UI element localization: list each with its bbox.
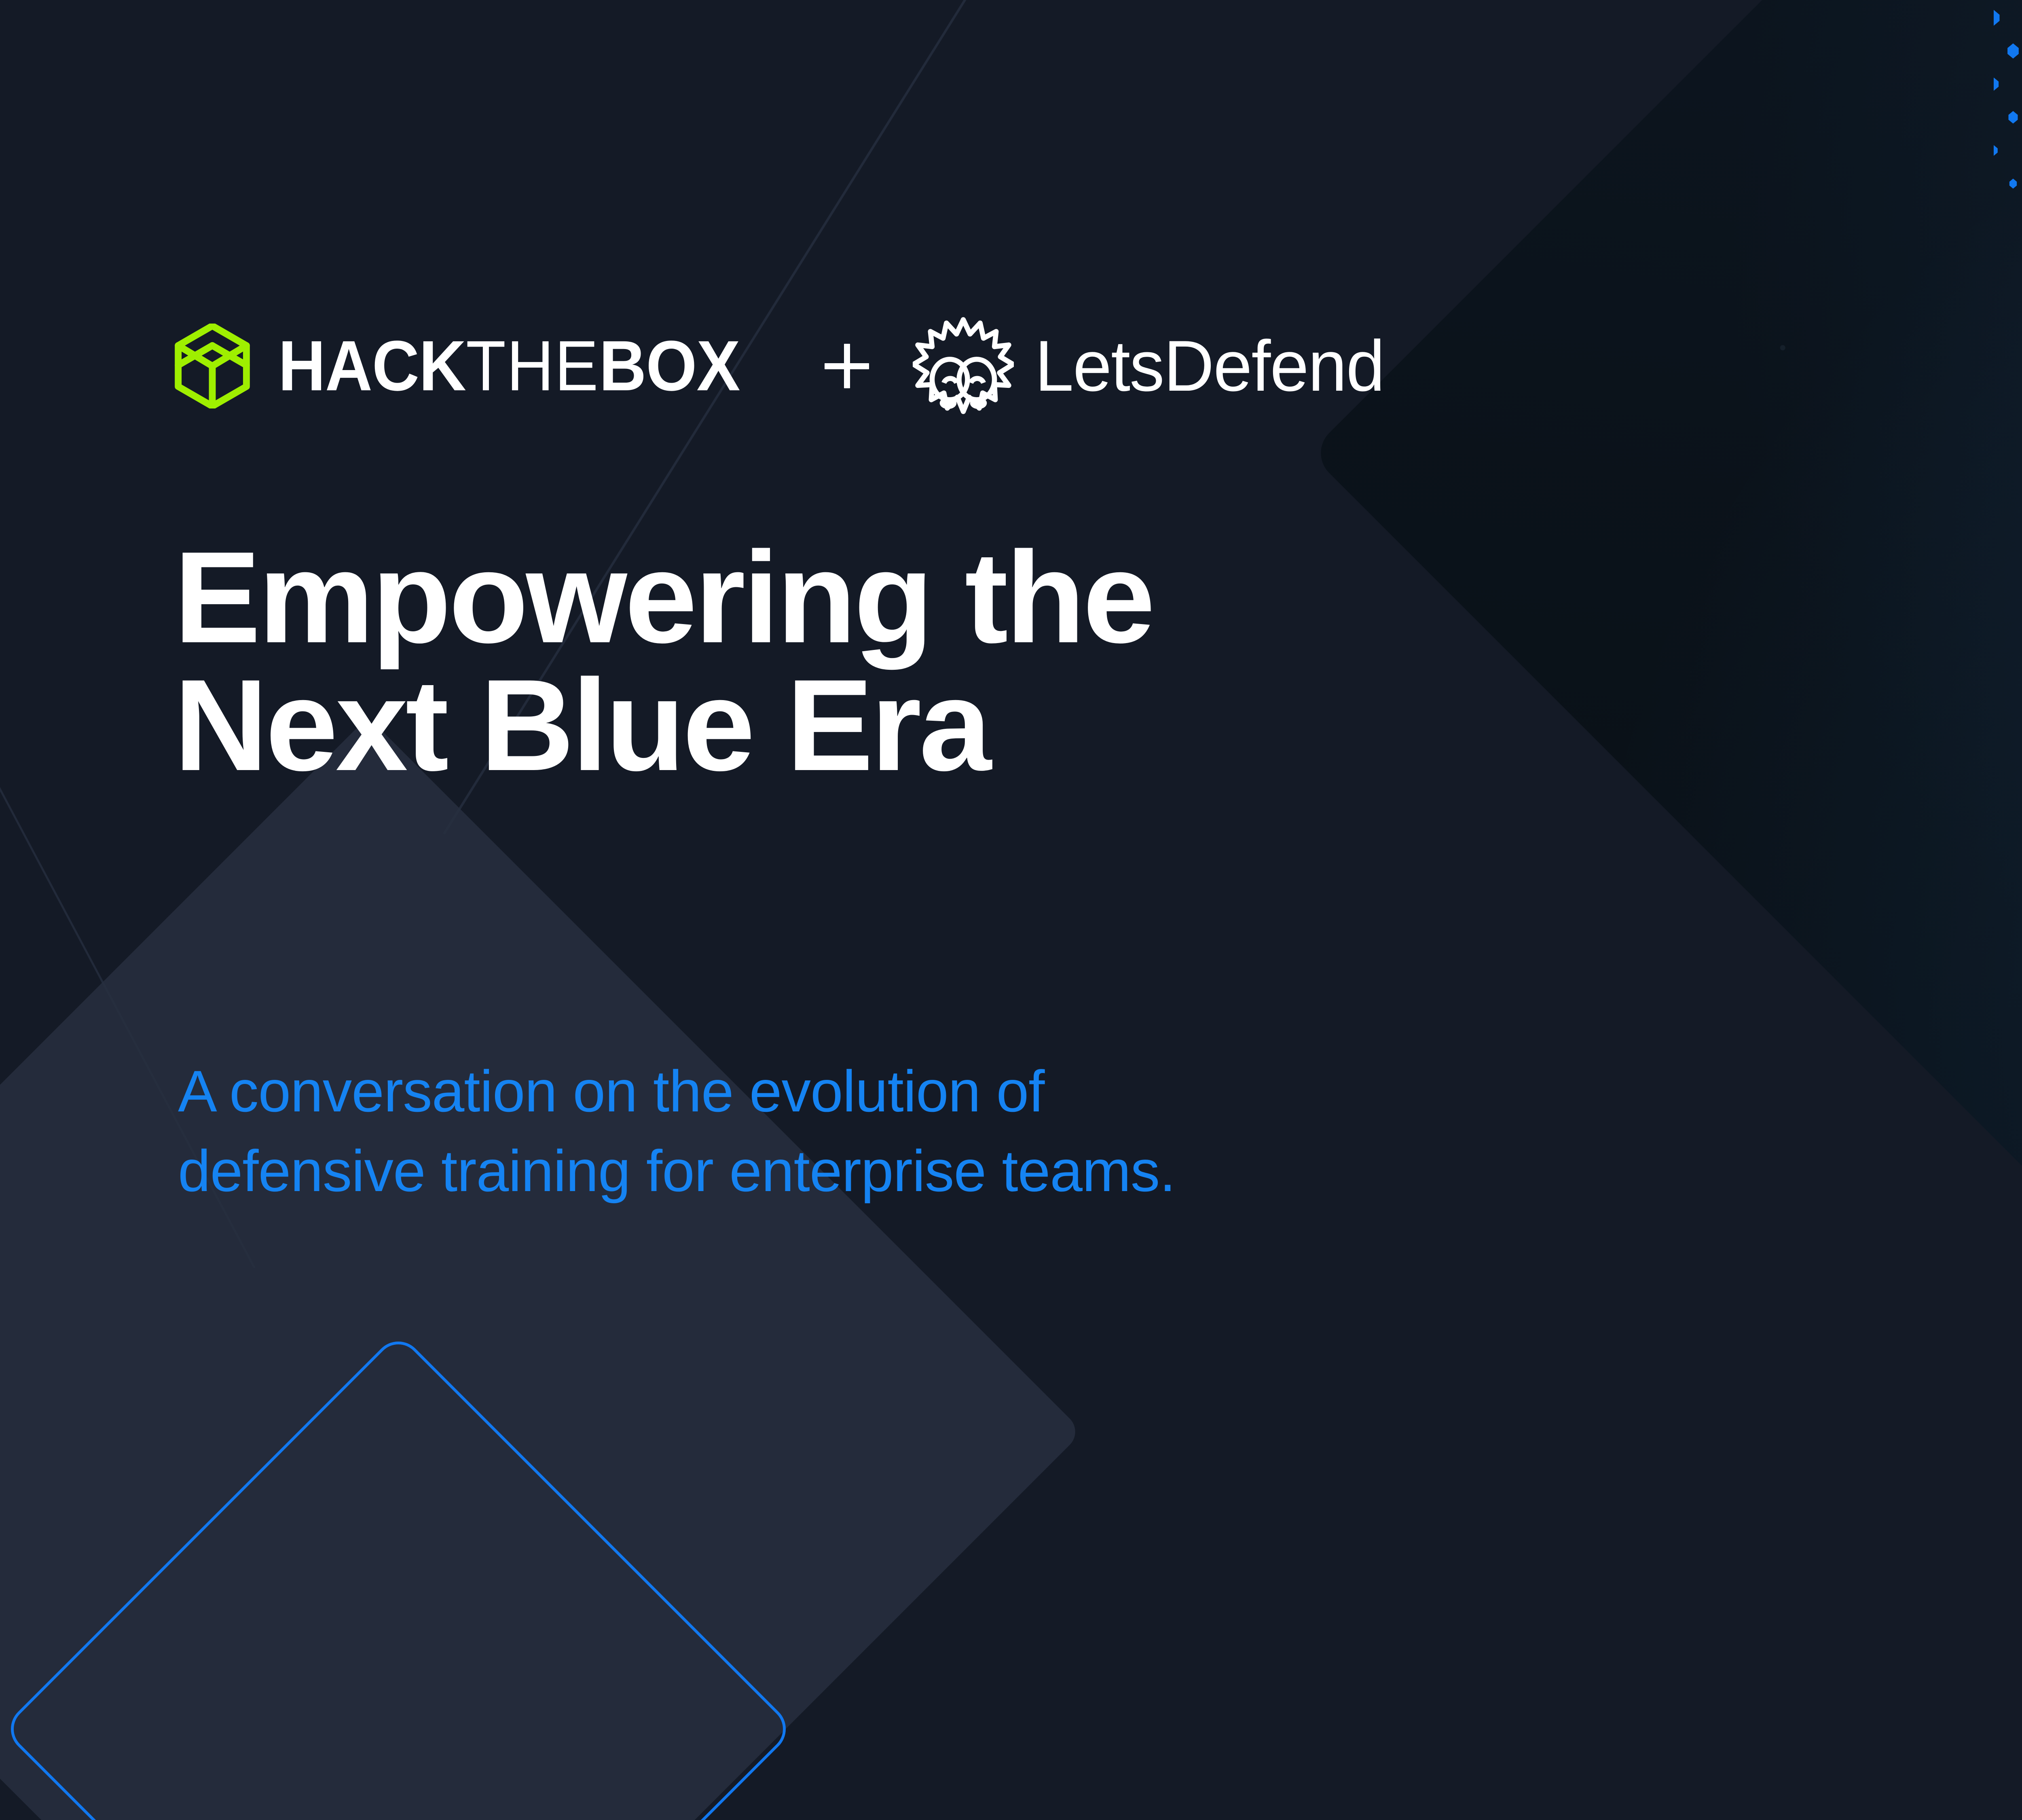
brand-lockup: HACKTHEBOX LetsDefend [174,326,1395,406]
plus-separator-icon [825,344,869,388]
banner-stage: HACKTHEBOX LetsDefend Empowering the Nex… [0,0,2022,1820]
page-subtitle: A conversation on the evolution of defen… [178,1052,1176,1211]
htb-word-box: BOX [599,326,740,406]
letsdefend-wordmark: LetsDefend [1035,330,1384,402]
page-title: Empowering the Next Blue Era [174,534,1153,789]
hero-content: HACKTHEBOX LetsDefend Empowering the Nex… [0,0,2022,1820]
hackthebox-cube-icon [174,324,251,408]
htb-word-the: THE [466,326,599,406]
htb-word-hack: HACK [278,326,466,406]
letsdefend-mascot-icon [913,315,1014,417]
hackthebox-wordmark: HACKTHEBOX [278,330,740,402]
